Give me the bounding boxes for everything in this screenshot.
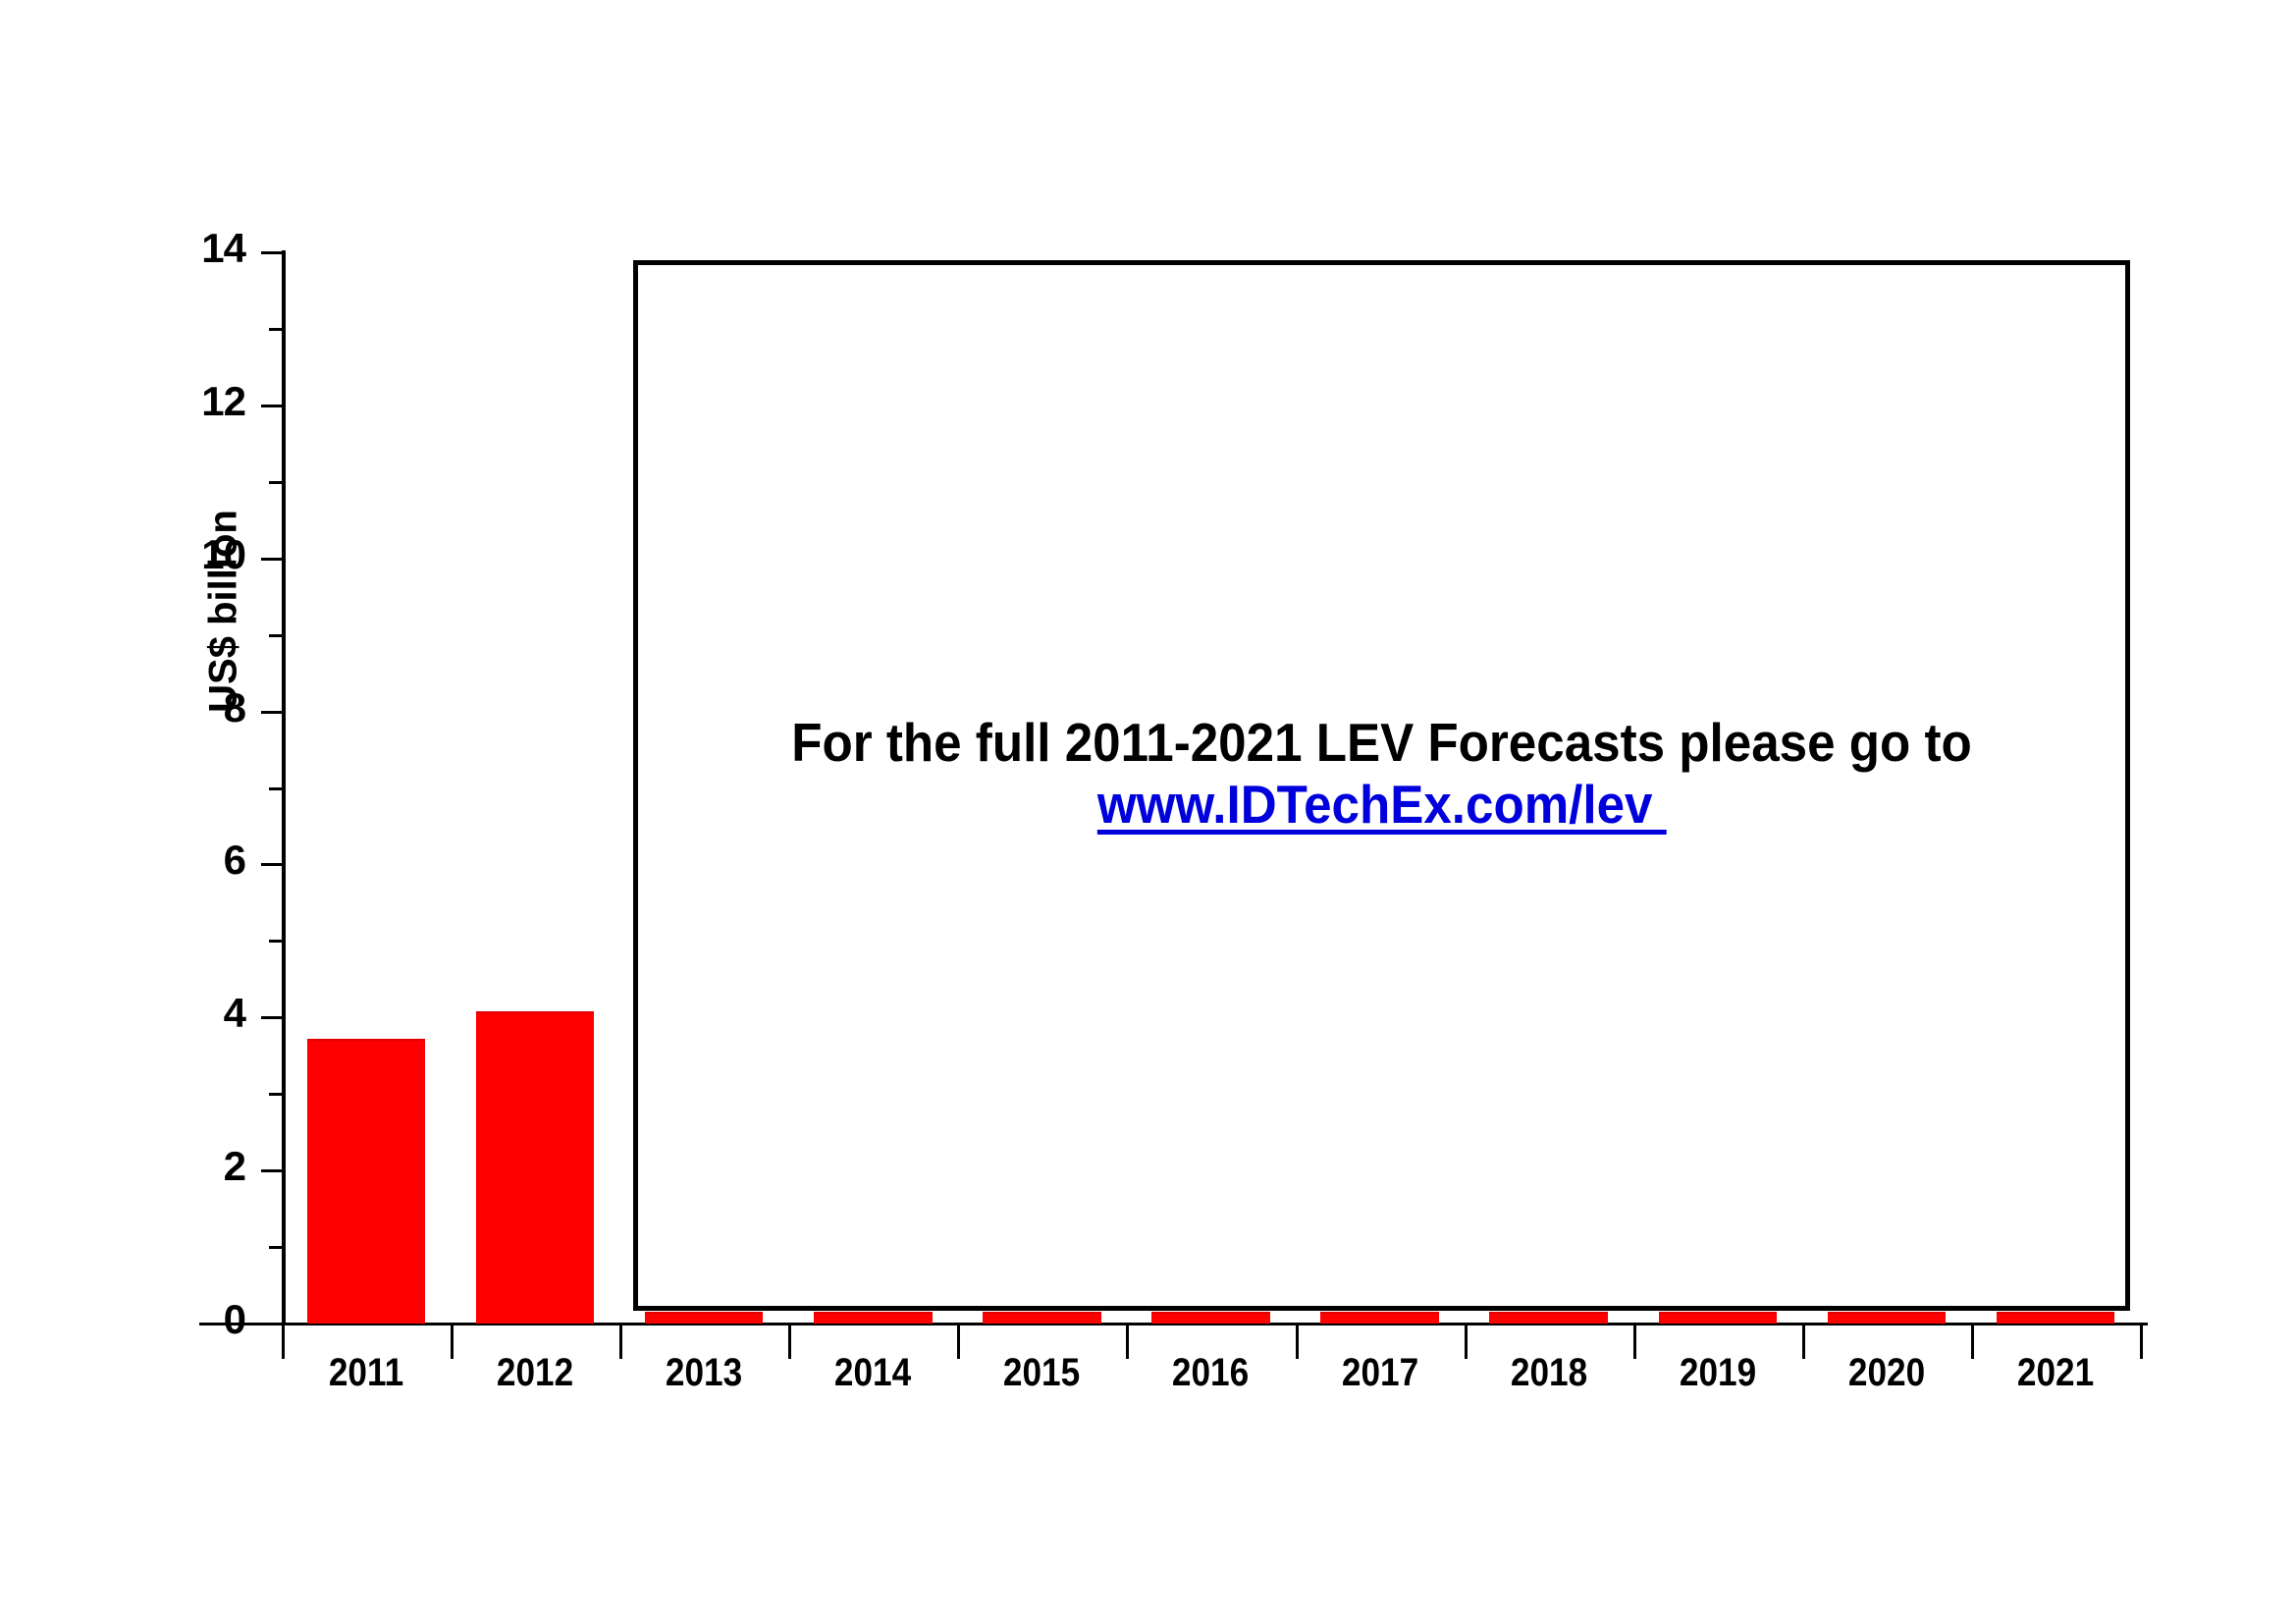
y-tick-major bbox=[261, 1169, 283, 1172]
y-tick-label: 4 bbox=[147, 990, 245, 1037]
x-tick-label: 2018 bbox=[1474, 1351, 1623, 1395]
y-tick-label: 12 bbox=[147, 378, 245, 425]
y-tick-label: 8 bbox=[147, 684, 245, 731]
x-tick bbox=[619, 1325, 622, 1359]
y-tick-minor bbox=[269, 1093, 283, 1096]
x-tick bbox=[1971, 1325, 1974, 1359]
overlay-heading: For the full 2011-2021 LEV Forecasts ple… bbox=[690, 712, 2073, 774]
x-tick-label: 2017 bbox=[1306, 1351, 1454, 1395]
x-tick-label: 2021 bbox=[1981, 1351, 2129, 1395]
bar bbox=[1659, 1312, 1777, 1324]
bar bbox=[645, 1312, 763, 1324]
y-tick-major bbox=[261, 251, 283, 254]
bar-chart: US$ billion 02468101214 2011201220132014… bbox=[0, 0, 2296, 1623]
x-tick bbox=[788, 1325, 791, 1359]
bar bbox=[1828, 1312, 1946, 1324]
y-tick-minor bbox=[269, 481, 283, 484]
x-tick-label: 2013 bbox=[629, 1351, 777, 1395]
idtechex-lev-link[interactable]: www.IDTechEx.com/lev bbox=[1097, 774, 1667, 836]
x-tick bbox=[2140, 1325, 2143, 1359]
bar bbox=[1489, 1312, 1607, 1324]
x-tick-label: 2020 bbox=[1812, 1351, 1960, 1395]
bar bbox=[1997, 1312, 2114, 1324]
y-tick-label: 6 bbox=[147, 837, 245, 884]
y-tick-label: 0 bbox=[147, 1296, 245, 1343]
x-tick bbox=[282, 1325, 285, 1359]
y-tick-minor bbox=[269, 1246, 283, 1249]
y-tick-label: 2 bbox=[147, 1143, 245, 1190]
y-tick-minor bbox=[269, 328, 283, 331]
y-tick-minor bbox=[269, 787, 283, 790]
y-tick-minor bbox=[269, 634, 283, 637]
x-tick bbox=[1296, 1325, 1299, 1359]
bar bbox=[476, 1011, 594, 1324]
chart-page: US$ billion 02468101214 2011201220132014… bbox=[0, 0, 2296, 1623]
bar bbox=[983, 1312, 1100, 1324]
x-tick-label: 2016 bbox=[1137, 1351, 1285, 1395]
x-tick-label: 2015 bbox=[968, 1351, 1116, 1395]
y-tick-major bbox=[261, 863, 283, 866]
y-tick-major bbox=[261, 1016, 283, 1019]
x-tick bbox=[1465, 1325, 1468, 1359]
overlay-text-block: For the full 2011-2021 LEV Forecasts ple… bbox=[638, 712, 2125, 835]
y-tick-minor bbox=[269, 940, 283, 943]
y-tick-major bbox=[261, 1323, 283, 1325]
bar bbox=[1320, 1312, 1438, 1324]
x-tick-label: 2019 bbox=[1643, 1351, 1791, 1395]
x-tick bbox=[451, 1325, 454, 1359]
y-tick-label: 10 bbox=[147, 531, 245, 578]
x-tick bbox=[957, 1325, 960, 1359]
y-tick-major bbox=[261, 711, 283, 714]
y-tick-major bbox=[261, 405, 283, 407]
y-tick-label: 14 bbox=[147, 225, 245, 272]
y-tick-major bbox=[261, 558, 283, 561]
bar bbox=[1151, 1312, 1269, 1324]
x-tick bbox=[1633, 1325, 1636, 1359]
x-tick-label: 2012 bbox=[460, 1351, 609, 1395]
bar bbox=[814, 1312, 932, 1324]
x-tick-label: 2014 bbox=[799, 1351, 947, 1395]
overlay-callout-box: For the full 2011-2021 LEV Forecasts ple… bbox=[633, 260, 2130, 1311]
bar bbox=[307, 1039, 425, 1324]
x-tick bbox=[1126, 1325, 1129, 1359]
x-tick-label: 2011 bbox=[292, 1351, 440, 1395]
x-tick bbox=[1802, 1325, 1805, 1359]
